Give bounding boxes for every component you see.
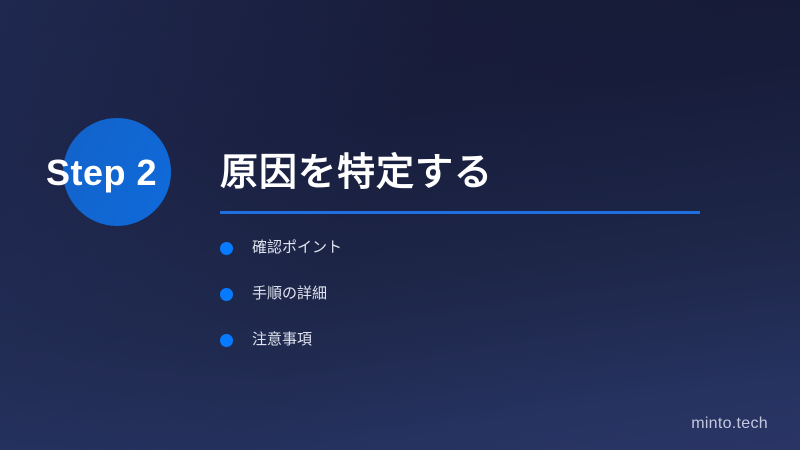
bullet-dot-icon (220, 288, 233, 301)
list-item: 確認ポイント (220, 238, 342, 258)
step-number-label: Step 2 (46, 152, 157, 194)
bullet-list: 確認ポイント 手順の詳細 注意事項 (220, 238, 342, 376)
bullet-dot-icon (220, 334, 233, 347)
list-item: 手順の詳細 (220, 284, 342, 304)
bullet-item-label: 注意事項 (252, 330, 312, 350)
presentation-slide: Step 2 原因を特定する 確認ポイント 手順の詳細 注意事項 minto.t… (0, 0, 800, 450)
slide-title: 原因を特定する (220, 150, 493, 196)
title-divider (220, 211, 700, 214)
list-item: 注意事項 (220, 330, 342, 350)
bullet-item-label: 確認ポイント (252, 238, 342, 258)
bullet-dot-icon (220, 242, 233, 255)
bullet-item-label: 手順の詳細 (252, 284, 327, 304)
footer-branding: minto.tech (691, 414, 768, 434)
